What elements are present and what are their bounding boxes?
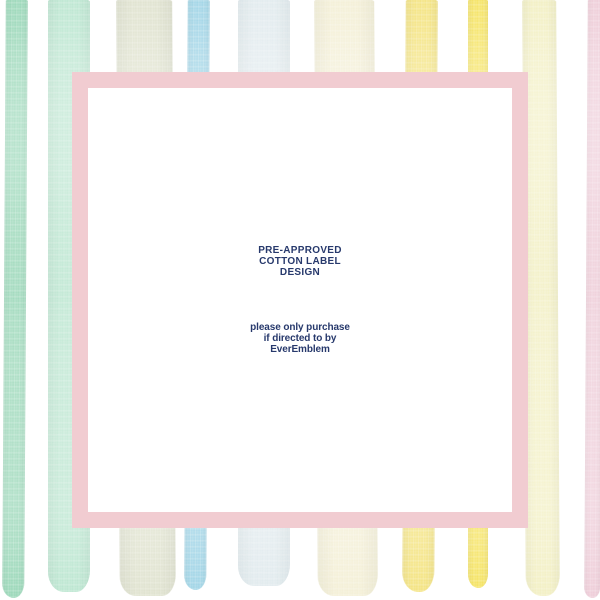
page-title: PRE-APPROVED COTTON LABEL DESIGN (88, 245, 512, 278)
label-text-block: PRE-APPROVED COTTON LABEL DESIGN please … (88, 88, 512, 512)
brand-name: EverEmblem (88, 344, 512, 355)
stripe-green-dark (2, 0, 28, 598)
stripe-pink (584, 0, 600, 598)
design-canvas: PRE-APPROVED COTTON LABEL DESIGN please … (0, 0, 600, 600)
subhead-line-2: if directed to by (88, 333, 512, 344)
headline-line-1: PRE-APPROVED (88, 245, 512, 256)
headline-line-3: DESIGN (88, 267, 512, 278)
subhead-line-1: please only purchase (88, 322, 512, 333)
subtitle-notice: please only purchase if directed to by E… (88, 322, 512, 355)
headline-line-2: COTTON LABEL (88, 256, 512, 267)
